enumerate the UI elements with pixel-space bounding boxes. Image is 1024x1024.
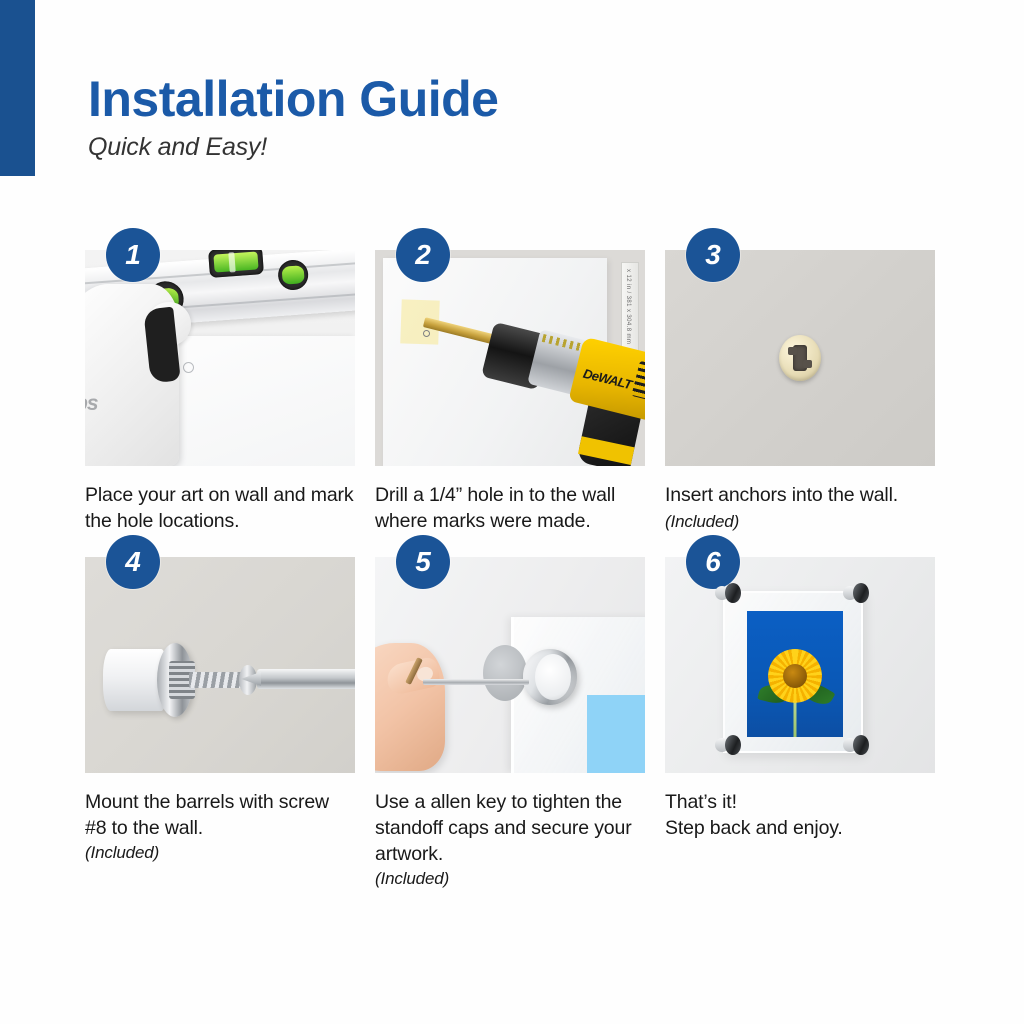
step-caption-text-3: Insert anchors into the wall. <box>665 484 898 506</box>
step-photo-wrap-1: 1 bs <box>85 228 355 466</box>
drill-mark <box>423 330 430 337</box>
step-number-badge-2: 2 <box>396 228 450 282</box>
wall-anchor-icon <box>779 335 821 381</box>
step-photo-wrap-3: 3 <box>665 228 935 466</box>
step-photo-5 <box>375 557 645 773</box>
step-card-1: 1 bs P <box>85 228 355 535</box>
step-photo-wrap-6: 6 <box>665 535 935 773</box>
step-photo-wrap-5: 5 <box>375 535 645 773</box>
step-caption-6: That’s it! Step back and enjoy. <box>665 790 935 842</box>
installation-guide-page: Installation Guide Quick and Easy! 1 <box>0 0 1024 1024</box>
step-photo-1: bs <box>85 250 355 466</box>
artwork-panel <box>159 336 355 466</box>
header: Installation Guide Quick and Easy! <box>88 72 498 162</box>
standoff-wall-base <box>483 645 527 701</box>
step-caption-text-2: Drill a 1/4” hole in to the wall where m… <box>375 484 615 532</box>
standoff-top-left <box>715 583 741 603</box>
glove-brand-text: bs <box>85 392 98 416</box>
step-number-badge-1: 1 <box>106 228 160 282</box>
step-caption-4: Mount the barrels with screw #8 to the w… <box>85 790 355 864</box>
step-card-2: 2 x 12 in / 381 x 304.8 mm <box>375 228 645 535</box>
step-card-6: 6 <box>665 535 935 890</box>
step-photo-4 <box>85 557 355 773</box>
acrylic-frame <box>723 591 863 753</box>
step-caption-text-4: Mount the barrels with screw #8 to the w… <box>85 791 329 839</box>
handle-accent <box>578 436 635 465</box>
ruler-text: x 12 in / 381 x 304.8 mm <box>625 269 631 344</box>
standoff-bottom-right <box>843 735 869 755</box>
standoff-cap <box>725 735 741 755</box>
artwork-blue-area <box>587 695 645 773</box>
standoff-top-right <box>843 583 869 603</box>
standoff-cap-icon <box>523 649 577 705</box>
anchor-slot <box>793 345 807 371</box>
step-number-badge-6: 6 <box>686 535 740 589</box>
screwdriver-icon <box>257 669 355 689</box>
drill-brand-text: DeWALT <box>582 366 634 393</box>
standoff-cap <box>725 583 741 603</box>
standoff-barrel-icon <box>103 649 165 711</box>
included-note-4: (Included) <box>85 842 355 865</box>
bubble-vial-center-icon <box>208 250 264 278</box>
step-photo-2: x 12 in / 381 x 304.8 mm DeWALT <box>375 250 645 466</box>
step-photo-3 <box>665 250 935 466</box>
step-caption-3: Insert anchors into the wall. (Included) <box>665 483 935 535</box>
flower-center <box>783 664 807 688</box>
step-photo-wrap-4: 4 <box>85 535 355 773</box>
allen-key-icon <box>423 679 529 685</box>
step-caption-5: Use a allen key to tighten the standoff … <box>375 790 645 890</box>
step-caption-2: Drill a 1/4” hole in to the wall where m… <box>375 483 645 535</box>
step-caption-text-1: Place your art on wall and mark the hole… <box>85 484 353 532</box>
step-card-4: 4 Mount the barrels with screw #8 to the… <box>85 535 355 890</box>
header-accent-bar <box>0 0 35 176</box>
hand-icon <box>375 643 445 771</box>
included-note-5: (Included) <box>375 868 645 891</box>
standoff-cap <box>853 583 869 603</box>
step-card-5: 5 Use a allen key to tighten the standof… <box>375 535 645 890</box>
screw-shaft-icon <box>189 672 245 688</box>
sunflower-icon <box>768 649 822 703</box>
page-title: Installation Guide <box>88 72 498 127</box>
standoff-cap <box>853 735 869 755</box>
steps-grid: 1 bs P <box>85 228 955 890</box>
step-caption-1: Place your art on wall and mark the hole… <box>85 483 355 535</box>
step-photo-6 <box>665 557 935 773</box>
step-number-badge-4: 4 <box>106 535 160 589</box>
step-caption-line-1: That’s it! <box>665 791 737 813</box>
step-number-badge-3: 3 <box>686 228 740 282</box>
step-caption-line-2: Step back and enjoy. <box>665 817 843 839</box>
step-card-3: 3 Insert anchors into the wall. (Include… <box>665 228 935 535</box>
page-subtitle: Quick and Easy! <box>88 133 498 162</box>
standoff-bottom-left <box>715 735 741 755</box>
step-caption-text-5: Use a allen key to tighten the standoff … <box>375 791 632 865</box>
bubble-vial-icon <box>277 259 309 291</box>
step-photo-wrap-2: 2 x 12 in / 381 x 304.8 mm <box>375 228 645 466</box>
step-number-badge-5: 5 <box>396 535 450 589</box>
sunflower-poster <box>747 611 843 737</box>
drill-vent <box>631 361 645 401</box>
included-note-3: (Included) <box>665 512 739 531</box>
